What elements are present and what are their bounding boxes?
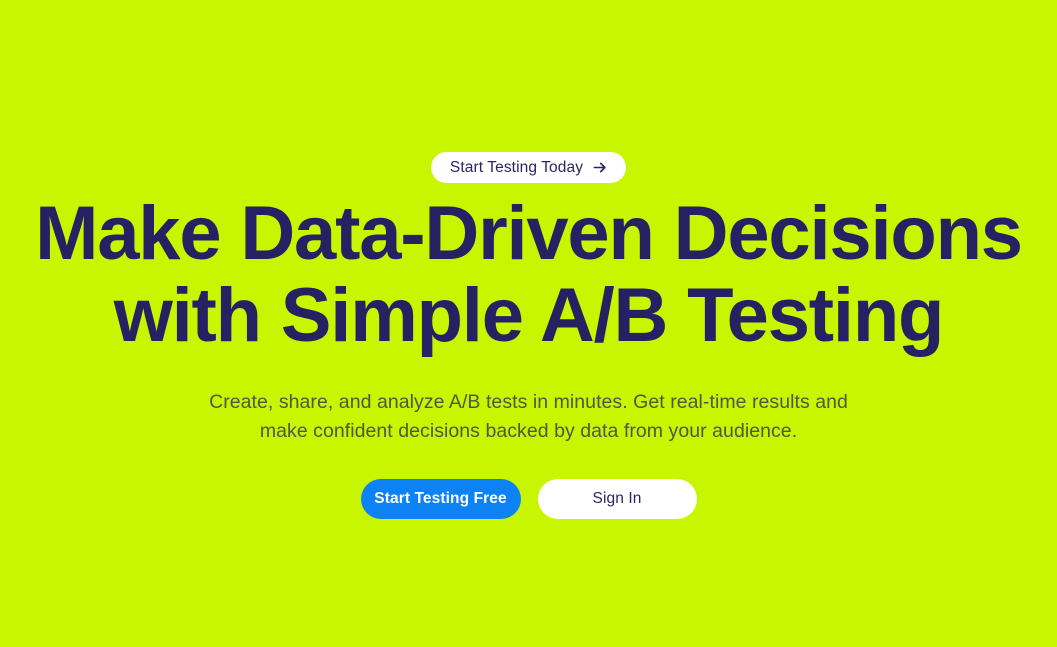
arrow-right-icon: [592, 160, 607, 175]
start-testing-free-button[interactable]: Start Testing Free: [361, 479, 521, 519]
headline-line-1: Make Data-Driven Decisions: [29, 196, 1029, 272]
hero-section: Start Testing Today Make Data-Driven Dec…: [0, 0, 1057, 647]
headline-line-2: with Simple A/B Testing: [29, 278, 1029, 354]
hero-subtitle: Create, share, and analyze A/B tests in …: [184, 388, 874, 446]
start-testing-today-badge[interactable]: Start Testing Today: [431, 152, 626, 183]
sign-in-button[interactable]: Sign In: [538, 479, 697, 519]
page-title: Make Data-Driven Decisions with Simple A…: [29, 196, 1029, 354]
cta-button-group: Start Testing Free Sign In: [361, 479, 697, 519]
badge-label: Start Testing Today: [450, 160, 583, 176]
